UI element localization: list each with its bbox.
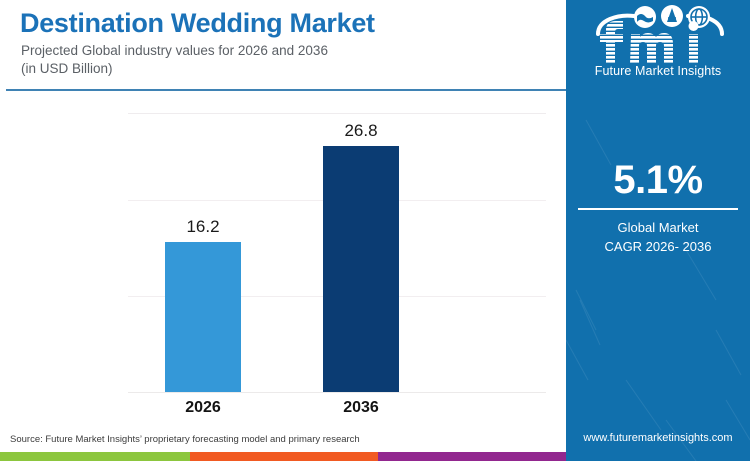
page-subtitle: Projected Global industry values for 202… (21, 42, 328, 78)
source-note: Source: Future Market Insights’ propriet… (10, 434, 360, 445)
fmi-wordmark: Future Market Insights (566, 64, 750, 78)
bar-value-2036: 26.8 (323, 121, 399, 141)
stripe-segment-orange (190, 452, 378, 461)
bar-value-2026: 16.2 (165, 217, 241, 237)
stripe-segment-purple (378, 452, 566, 461)
cagr-divider (578, 208, 738, 210)
bar-chart: 16.2 26.8 2026 2036 (0, 92, 566, 422)
category-label-2036: 2036 (323, 399, 399, 417)
website-url[interactable]: www.futuremarketinsights.com (566, 432, 750, 444)
bottom-color-stripe (0, 452, 566, 461)
header-divider (6, 89, 566, 91)
plot-area: 16.2 26.8 2026 2036 (128, 113, 546, 413)
bar-2036[interactable] (323, 146, 399, 392)
stripe-segment-green (0, 452, 190, 461)
fmi-logo: Future Market Insights (566, 4, 750, 88)
brand-panel: Future Market Insights 5.1% Global Marke… (566, 0, 750, 461)
cagr-value: 5.1% (566, 158, 750, 203)
header: Destination Wedding Market Projected Glo… (0, 0, 566, 90)
content-pane: Destination Wedding Market Projected Glo… (0, 0, 566, 461)
gridline-top (128, 113, 546, 114)
fmi-logo-mark (590, 4, 730, 66)
axis-baseline (128, 392, 546, 393)
infographic-root: Destination Wedding Market Projected Glo… (0, 0, 750, 461)
globe-icons (634, 5, 710, 28)
page-title: Destination Wedding Market (20, 8, 375, 39)
category-label-2026: 2026 (165, 399, 241, 417)
cagr-caption: Global Market CAGR 2026- 2036 (566, 218, 750, 256)
bar-2026[interactable] (165, 242, 241, 392)
